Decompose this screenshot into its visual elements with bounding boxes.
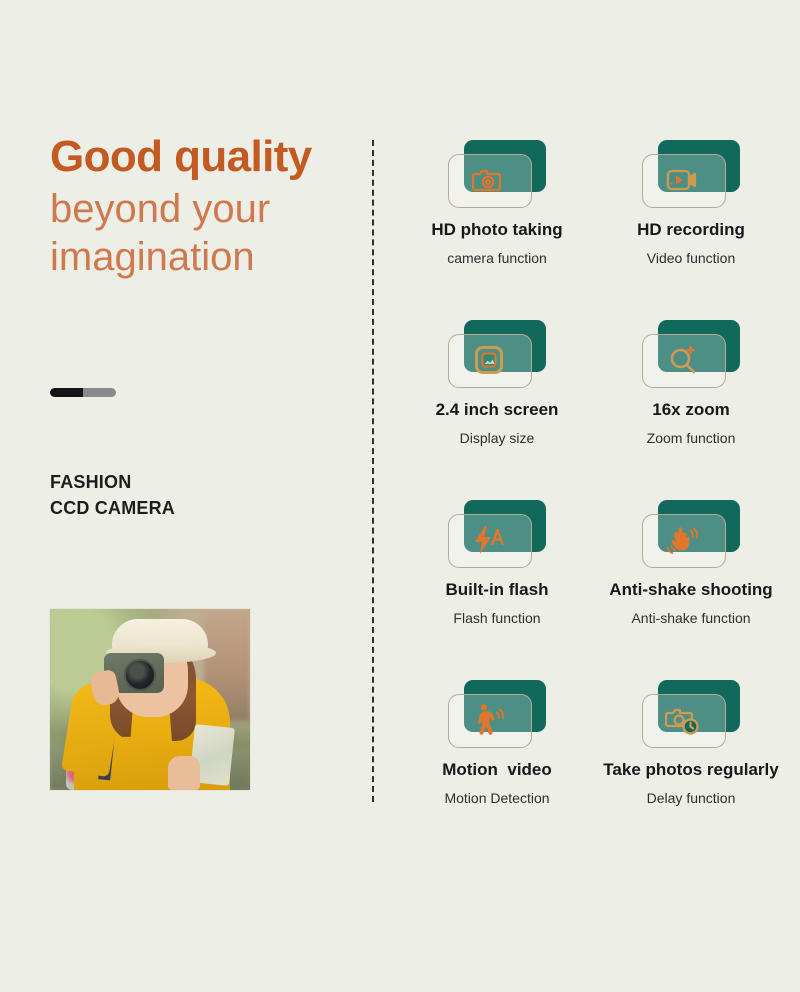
camera-clock-icon <box>660 694 706 746</box>
feature-icon-stack <box>442 680 552 752</box>
feature-icon-stack <box>636 320 746 392</box>
lifestyle-photo <box>50 609 250 790</box>
shaking-hand-icon <box>660 514 706 566</box>
feature-item: 16x zoom Zoom function <box>594 320 788 500</box>
photo-camera-lens <box>124 659 156 691</box>
brand-line-1: FASHION <box>50 470 175 496</box>
photo-person-hand-lower <box>168 756 200 790</box>
feature-icon-stack <box>442 140 552 212</box>
feature-sublabel: Flash function <box>453 610 540 627</box>
feature-icon-stack <box>442 500 552 572</box>
feature-sublabel: Motion Detection <box>444 790 549 807</box>
headline-primary: Good quality <box>50 134 350 181</box>
feature-label: HD photo taking <box>431 220 562 240</box>
feature-item: Take photos regularly Delay function <box>594 680 788 860</box>
feature-sublabel: Anti-shake function <box>631 610 750 627</box>
feature-item: HD photo taking camera function <box>400 140 594 320</box>
feature-grid: HD photo taking camera function HD recor… <box>400 140 788 860</box>
feature-icon-stack <box>442 320 552 392</box>
feature-label: 2.4 inch screen <box>436 400 559 420</box>
feature-sublabel: Zoom function <box>647 430 736 447</box>
feature-item: HD recording Video function <box>594 140 788 320</box>
feature-icon-stack <box>636 500 746 572</box>
headline-secondary-line1: beyond your <box>50 187 270 231</box>
feature-label: HD recording <box>637 220 745 240</box>
vertical-dashed-divider <box>372 140 374 802</box>
camera-icon <box>466 154 512 206</box>
flash-auto-icon <box>466 514 512 566</box>
headline-secondary-line2: imagination <box>50 233 350 282</box>
headline-secondary: beyond your imagination <box>50 185 350 283</box>
brand-name: FASHION CCD CAMERA <box>50 470 175 521</box>
feature-label: Built-in flash <box>446 580 549 600</box>
feature-item: 2.4 inch screen Display size <box>400 320 594 500</box>
feature-sublabel: camera function <box>447 250 547 267</box>
feature-icon-stack <box>636 140 746 212</box>
feature-sublabel: Display size <box>460 430 535 447</box>
brand-line-2: CCD CAMERA <box>50 496 175 522</box>
feature-item: Built-in flash Flash function <box>400 500 594 680</box>
progress-bar <box>50 388 116 397</box>
screen-icon <box>466 334 512 386</box>
feature-item: Motion video Motion Detection <box>400 680 594 860</box>
magnifier-plus-icon <box>660 334 706 386</box>
hero-text-block: Good quality beyond your imagination <box>50 134 350 282</box>
feature-label: Motion video <box>442 760 552 780</box>
feature-label: Anti-shake shooting <box>609 580 772 600</box>
feature-sublabel: Video function <box>647 250 735 267</box>
feature-icon-stack <box>636 680 746 752</box>
infographic-page: Good quality beyond your imagination FAS… <box>0 0 800 992</box>
progress-bar-fill <box>50 388 83 397</box>
motion-sensor-icon <box>466 694 512 746</box>
feature-label: 16x zoom <box>652 400 729 420</box>
feature-item: Anti-shake shooting Anti-shake function <box>594 500 788 680</box>
feature-label: Take photos regularly <box>603 760 778 780</box>
feature-sublabel: Delay function <box>647 790 736 807</box>
video-camera-icon <box>660 154 706 206</box>
